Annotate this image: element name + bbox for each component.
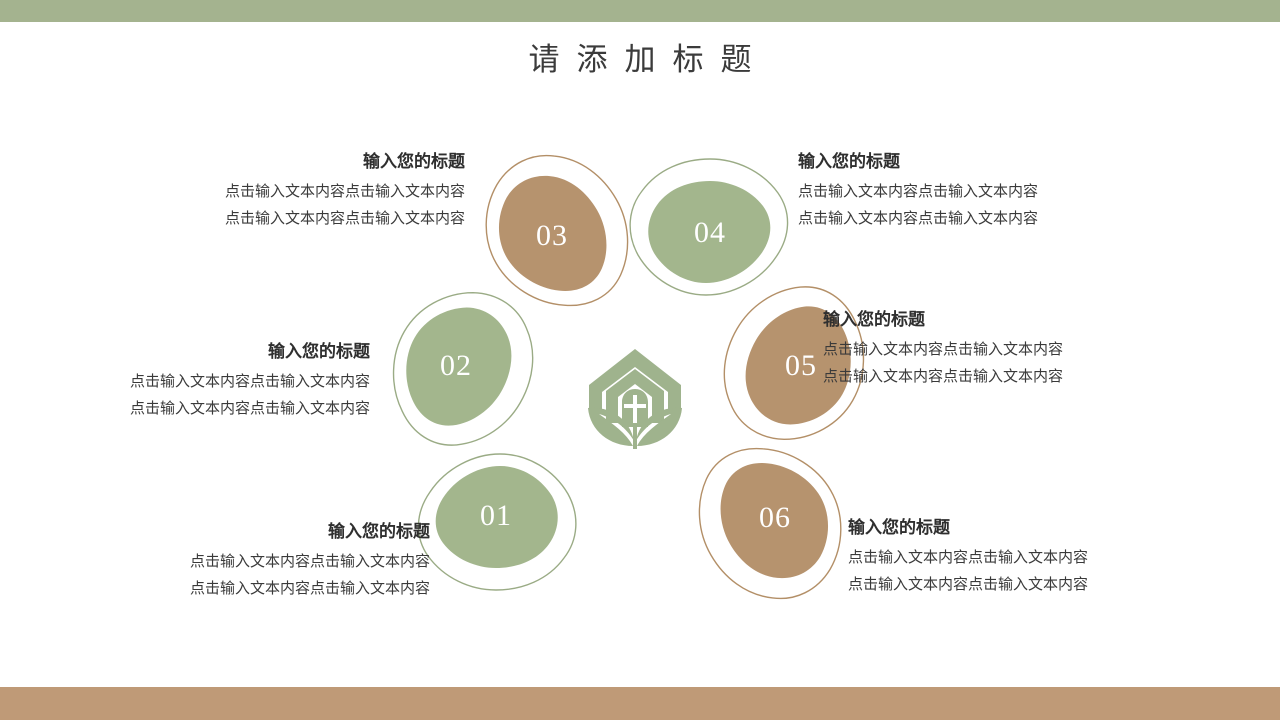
slide-canvas: 请添加标题 bbox=[0, 0, 1280, 720]
petal-06[interactable] bbox=[672, 420, 868, 624]
text-block-01-line-2: 点击输入文本内容点击输入文本内容 bbox=[115, 576, 430, 602]
text-block-02[interactable]: 输入您的标题 点击输入文本内容点击输入文本内容 点击输入文本内容点击输入文本内容 bbox=[55, 342, 370, 422]
text-block-06-heading: 输入您的标题 bbox=[848, 518, 1178, 538]
petal-02-fill bbox=[383, 288, 532, 445]
text-block-02-heading: 输入您的标题 bbox=[55, 342, 370, 362]
petal-04-fill bbox=[648, 181, 770, 283]
text-block-03-line-2: 点击输入文本内容点击输入文本内容 bbox=[150, 206, 465, 232]
text-block-06-line-2: 点击输入文本内容点击输入文本内容 bbox=[848, 572, 1178, 598]
text-block-04-line-2: 点击输入文本内容点击输入文本内容 bbox=[798, 206, 1128, 232]
text-block-03[interactable]: 输入您的标题 点击输入文本内容点击输入文本内容 点击输入文本内容点击输入文本内容 bbox=[150, 152, 465, 232]
house-leaves-icon bbox=[580, 345, 690, 455]
text-block-02-line-2: 点击输入文本内容点击输入文本内容 bbox=[55, 396, 370, 422]
text-block-04-line-1: 点击输入文本内容点击输入文本内容 bbox=[798, 179, 1128, 205]
text-block-01[interactable]: 输入您的标题 点击输入文本内容点击输入文本内容 点击输入文本内容点击输入文本内容 bbox=[115, 522, 430, 602]
text-block-04[interactable]: 输入您的标题 点击输入文本内容点击输入文本内容 点击输入文本内容点击输入文本内容 bbox=[798, 152, 1128, 232]
petal-03[interactable] bbox=[458, 130, 654, 334]
petal-04[interactable] bbox=[630, 159, 787, 295]
text-block-06-line-1: 点击输入文本内容点击输入文本内容 bbox=[848, 545, 1178, 571]
text-block-03-line-1: 点击输入文本内容点击输入文本内容 bbox=[150, 179, 465, 205]
text-block-02-line-1: 点击输入文本内容点击输入文本内容 bbox=[55, 369, 370, 395]
text-block-01-line-1: 点击输入文本内容点击输入文本内容 bbox=[115, 549, 430, 575]
text-block-05-heading: 输入您的标题 bbox=[823, 310, 1153, 330]
text-block-06[interactable]: 输入您的标题 点击输入文本内容点击输入文本内容 点击输入文本内容点击输入文本内容 bbox=[848, 518, 1178, 598]
petal-01-fill bbox=[436, 466, 558, 568]
text-block-05-line-2: 点击输入文本内容点击输入文本内容 bbox=[823, 364, 1153, 390]
text-block-05[interactable]: 输入您的标题 点击输入文本内容点击输入文本内容 点击输入文本内容点击输入文本内容 bbox=[823, 310, 1153, 390]
text-block-03-heading: 输入您的标题 bbox=[150, 152, 465, 172]
text-block-05-line-1: 点击输入文本内容点击输入文本内容 bbox=[823, 337, 1153, 363]
petal-02[interactable] bbox=[364, 266, 560, 470]
petal-01[interactable] bbox=[418, 454, 575, 590]
text-block-01-heading: 输入您的标题 bbox=[115, 522, 430, 542]
text-block-04-heading: 输入您的标题 bbox=[798, 152, 1128, 172]
